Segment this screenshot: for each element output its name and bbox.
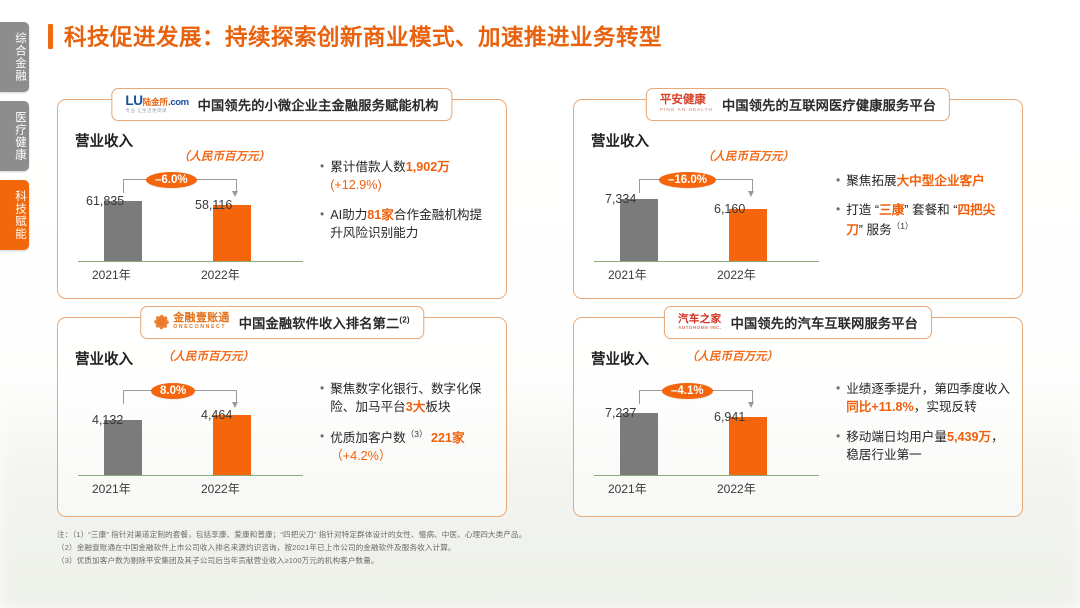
sidebar-item-comprehensive-finance[interactable]: 综合金融 [0, 22, 29, 92]
footnote-1: 注：（1）“三康” 指针对渠道定制的套餐，包括享康、爱康和普康；“四把尖刀” 指… [57, 528, 526, 541]
card-header-lufax: LU陆金所.com 专业 让生活更简单 中国领先的小微企业主金融服务赋能机构 [111, 88, 452, 121]
card-title: 中国领先的互联网医疗健康服务平台 [722, 95, 936, 114]
footnotes: 注：（1）“三康” 指针对渠道定制的套餐，包括享康、爱康和普康；“四把尖刀” 指… [57, 528, 526, 567]
list-item: •AI助力81家合作金融机构提升风险识别能力 [320, 206, 494, 243]
card-header-autohome: 汽车之家 AUTOHOME INC. 中国领先的汽车互联网服务平台 [664, 306, 932, 339]
card-lufax: LU陆金所.com 专业 让生活更简单 中国领先的小微企业主金融服务赋能机构 营… [57, 99, 507, 299]
chart-baseline [78, 261, 303, 262]
card-title: 中国领先的汽车互联网服务平台 [731, 313, 918, 332]
bar-2022 [729, 417, 767, 475]
card-header-pingan-health: 平安健康 PING AN HEALTH 中国领先的互联网医疗健康服务平台 [646, 88, 950, 121]
bar-value-2021: 7,237 [605, 406, 636, 420]
change-badge: –6.0% [146, 172, 197, 188]
list-item: •优质加客户数（3） 221家（+4.2%） [320, 428, 494, 466]
oneconnect-flower-icon [154, 314, 169, 329]
list-item: •聚焦数字化银行、数字化保险、加马平台3大板块 [320, 380, 494, 417]
bar-2021 [620, 413, 658, 475]
card-oneconnect: 金融壹账通 ONECONNECT 中国金融软件收入排名第二(2) 营业收入 （人… [57, 317, 507, 517]
list-item: •移动端日均用户量5,439万，稳居行业第一 [836, 428, 1010, 465]
title-accent-bar [48, 24, 53, 49]
chart-baseline [594, 475, 819, 476]
highlights-list: •聚焦拓展大中型企业客户 •打造 “三康” 套餐和 “四把尖刀” 服务（1） [836, 172, 1010, 250]
sidebar-item-tech-empowerment[interactable]: 科技赋能 [0, 180, 29, 250]
chart-baseline [594, 261, 819, 262]
highlights-list: •累计借款人数1,902万(+12.9%) •AI助力81家合作金融机构提升风险… [320, 158, 494, 253]
oneconnect-logo-icon: 金融壹账通 ONECONNECT [154, 313, 230, 330]
revenue-bar-chart: –4.1% 7,237 6,941 2021年 2022年 [588, 376, 823, 500]
pingan-health-logo-icon: 平安健康 PING AN HEALTH [660, 95, 713, 113]
footnote-2: （2）金融壹账通在中国金融软件上市公司收入排名来源灼识咨询，按2021年已上市公… [57, 541, 526, 554]
sidebar-tabs: 综合金融 医疗健康 科技赋能 [0, 22, 29, 250]
x-label-2021: 2021年 [608, 480, 647, 497]
bar-value-2021: 7,334 [605, 192, 636, 206]
card-autohome: 汽车之家 AUTOHOME INC. 中国领先的汽车互联网服务平台 营业收入 （… [573, 317, 1023, 517]
card-title: 中国金融软件收入排名第二(2) [239, 313, 410, 332]
unit-label: （人民币百万元） [686, 348, 778, 364]
x-label-2022: 2022年 [201, 266, 240, 283]
revenue-label: 营业收入 [75, 348, 133, 369]
highlights-list: •聚焦数字化银行、数字化保险、加马平台3大板块 •优质加客户数（3） 221家（… [320, 380, 494, 476]
bar-2021 [104, 420, 142, 475]
bar-2022 [213, 415, 251, 475]
lufax-logo-icon: LU陆金所.com 专业 让生活更简单 [125, 94, 188, 114]
card-grid: LU陆金所.com 专业 让生活更简单 中国领先的小微企业主金融服务赋能机构 营… [57, 99, 1023, 517]
bar-value-2022: 6,941 [714, 410, 745, 424]
autohome-logo-icon: 汽车之家 AUTOHOME INC. [678, 314, 722, 331]
bar-2021 [104, 201, 142, 261]
card-title: 中国领先的小微企业主金融服务赋能机构 [198, 95, 439, 114]
bar-value-2022: 6,160 [714, 202, 745, 216]
change-badge: 8.0% [151, 383, 195, 399]
revenue-label: 营业收入 [591, 348, 649, 369]
sidebar-item-healthcare[interactable]: 医疗健康 [0, 101, 29, 171]
bar-2021 [620, 199, 658, 261]
bar-value-2021: 4,132 [92, 413, 123, 427]
revenue-label: 营业收入 [75, 130, 133, 151]
revenue-bar-chart: –6.0% 61,835 58,116 2021年 2022年 [72, 162, 307, 286]
list-item: •累计借款人数1,902万(+12.9%) [320, 158, 494, 195]
unit-label: （人民币百万元） [162, 348, 254, 364]
page-header: 科技促进发展：持续探索创新商业模式、加速推进业务转型 [48, 20, 662, 52]
x-label-2021: 2021年 [92, 266, 131, 283]
chart-baseline [78, 475, 303, 476]
bar-value-2022: 58,116 [195, 198, 232, 212]
change-badge: –4.1% [662, 383, 713, 399]
card-pingan-health: 平安健康 PING AN HEALTH 中国领先的互联网医疗健康服务平台 营业收… [573, 99, 1023, 299]
bar-value-2021: 61,835 [86, 194, 124, 208]
card-header-oneconnect: 金融壹账通 ONECONNECT 中国金融软件收入排名第二(2) [140, 306, 424, 339]
footnote-3: （3）优质加客户数为剔除平安集团及其子公司后当年贡献营业收入≥100万元的机构客… [57, 554, 526, 567]
revenue-label: 营业收入 [591, 130, 649, 151]
revenue-bar-chart: 8.0% 4,132 4,464 2021年 2022年 [72, 376, 307, 500]
page-title: 科技促进发展：持续探索创新商业模式、加速推进业务转型 [64, 20, 662, 52]
list-item: •聚焦拓展大中型企业客户 [836, 172, 1010, 190]
list-item: •打造 “三康” 套餐和 “四把尖刀” 服务（1） [836, 201, 1010, 239]
x-label-2021: 2021年 [608, 266, 647, 283]
x-label-2022: 2022年 [717, 266, 756, 283]
x-label-2022: 2022年 [201, 480, 240, 497]
list-item: •业绩逐季提升，第四季度收入同比+11.8%，实现反转 [836, 380, 1010, 417]
bar-2022 [729, 209, 767, 261]
bar-2022 [213, 205, 251, 261]
bar-value-2022: 4,464 [201, 408, 232, 422]
change-badge: –16.0% [659, 172, 716, 188]
x-label-2022: 2022年 [717, 480, 756, 497]
highlights-list: •业绩逐季提升，第四季度收入同比+11.8%，实现反转 •移动端日均用户量5,4… [836, 380, 1010, 475]
x-label-2021: 2021年 [92, 480, 131, 497]
revenue-bar-chart: –16.0% 7,334 6,160 2021年 2022年 [588, 162, 823, 286]
